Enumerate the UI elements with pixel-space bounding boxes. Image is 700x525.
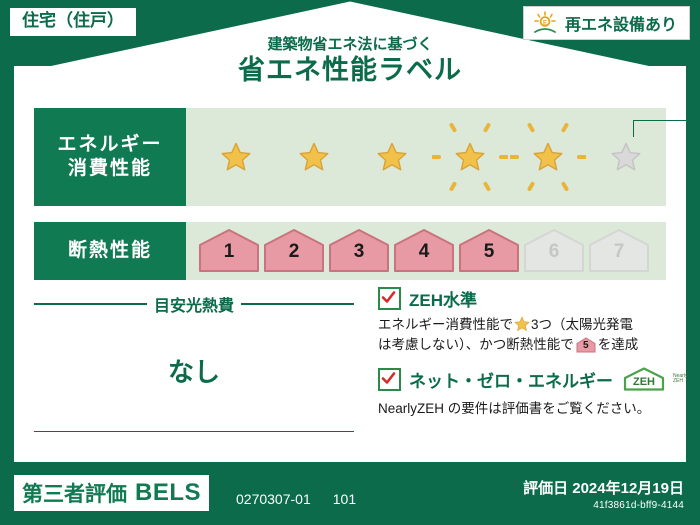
insulation-level-number: 7	[588, 241, 650, 263]
insulation-level-number: 2	[263, 241, 325, 263]
zeh-logo-icon: ZEH	[621, 366, 667, 392]
utility-cost-title: 目安光熱費	[154, 292, 234, 316]
net-zero-checkbox[interactable]	[378, 368, 401, 391]
zeh-logo-subtext: NearlyZEH	[673, 374, 687, 384]
insulation-level-number: 5	[458, 241, 520, 263]
energy-performance-label: エネルギー 消費性能	[34, 108, 186, 206]
evaluation-info: 評価日 2024年12月19日 41f3861d-bff9-4144	[523, 477, 684, 511]
insulation-level-scale: 1234567	[186, 228, 650, 274]
bels-energy-label: 住宅（住戸） E 再エネ設備あり 建築物省エネ法に基づく 省エネ性能ラベル エネ…	[0, 0, 700, 525]
energy-performance-row: エネルギー 消費性能 太陽光発電(自家消費)分	[34, 108, 666, 206]
inline-house-level: 5	[576, 339, 596, 354]
star-icon	[198, 119, 274, 195]
certificate-numbers: 0270307-01 101	[236, 491, 356, 507]
zeh-standard-title: ZEH水準	[409, 286, 477, 311]
insulation-levels-area: 1234567	[186, 222, 666, 280]
zeh-standard-description: エネルギー消費性能で3つ（太陽光発電 は考慮しない）、かつ断熱性能で5を達成	[378, 315, 674, 354]
zeh-desc-part1: エネルギー消費性能で	[378, 317, 513, 332]
energy-star-filled-4	[432, 119, 508, 195]
evaluation-date: 評価日 2024年12月19日	[523, 477, 684, 498]
renewable-energy-badge: E 再エネ設備あり	[523, 6, 690, 40]
certificate-sequence: 101	[333, 491, 356, 507]
inline-star-icon	[514, 316, 530, 332]
check-icon	[381, 371, 396, 386]
bels-jp-label: 第三者評価	[22, 478, 127, 508]
star-icon	[276, 119, 352, 195]
sun-icon: E	[532, 11, 558, 35]
net-zero-row: ネット・ゼロ・エネルギー ZEH NearlyZEH	[378, 366, 674, 392]
insulation-level-1: 1	[198, 228, 260, 274]
svg-text:E: E	[543, 20, 547, 26]
footer-bar: 第三者評価 BELS 0270307-01 101 評価日 2024年12月19…	[0, 463, 700, 525]
utility-cost-bottom-rule	[34, 431, 354, 433]
energy-star-rating	[186, 119, 664, 195]
renewable-badge-label: 再エネ設備あり	[565, 11, 677, 35]
insulation-level-number: 1	[198, 241, 260, 263]
insulation-level-2: 2	[263, 228, 325, 274]
rule-left	[34, 303, 147, 305]
house-type-tag: 住宅（住戸）	[8, 6, 138, 38]
insulation-label-text: 断熱性能	[68, 239, 152, 263]
net-zero-title: ネット・ゼロ・エネルギー	[409, 367, 613, 392]
insulation-level-5: 5	[458, 228, 520, 274]
zeh-logo-text: ZEH	[633, 376, 655, 388]
energy-star-filled-3	[354, 119, 430, 195]
utility-cost-block: 目安光熱費 なし	[34, 292, 354, 452]
bels-en-label: BELS	[135, 479, 201, 507]
inline-house-icon: 5	[576, 337, 596, 353]
zeh-block: ZEH水準 エネルギー消費性能で3つ（太陽光発電 は考慮しない）、かつ断熱性能で…	[378, 286, 674, 417]
insulation-performance-label: 断熱性能	[34, 222, 186, 280]
insulation-level-number: 4	[393, 241, 455, 263]
insulation-level-6: 6	[523, 228, 585, 274]
energy-label-line2: 消費性能	[68, 157, 152, 181]
title-block: 建築物省エネ法に基づく 省エネ性能ラベル	[0, 36, 700, 88]
energy-star-filled-2	[276, 119, 352, 195]
net-zero-energy-section: ネット・ゼロ・エネルギー ZEH NearlyZEH NearlyZEH の要件…	[378, 366, 674, 417]
energy-star-filled-5	[510, 119, 586, 195]
zeh-standard-row: ZEH水準	[378, 286, 674, 311]
insulation-level-number: 6	[523, 241, 585, 263]
evaluation-id: 41f3861d-bff9-4144	[523, 500, 684, 511]
bels-badge: 第三者評価 BELS	[14, 475, 209, 511]
insulation-level-7: 7	[588, 228, 650, 274]
star-icon	[432, 119, 508, 195]
energy-star-filled-1	[198, 119, 274, 195]
page-title: 省エネ性能ラベル	[0, 54, 700, 88]
utility-cost-value: なし	[34, 352, 354, 389]
energy-star-empty-6	[588, 119, 664, 195]
zeh-desc-part2: 3つ（太陽光発電	[531, 317, 633, 332]
insulation-level-4: 4	[393, 228, 455, 274]
certificate-number: 0270307-01	[236, 491, 311, 507]
star-icon	[588, 119, 664, 195]
utility-cost-heading: 目安光熱費	[34, 292, 354, 316]
star-icon	[354, 119, 430, 195]
check-icon	[381, 290, 396, 305]
zeh-desc-part4: を達成	[598, 337, 639, 352]
energy-label-line1: エネルギー	[57, 133, 162, 157]
energy-stars-area: 太陽光発電(自家消費)分	[186, 108, 666, 206]
insulation-level-3: 3	[328, 228, 390, 274]
star-icon	[510, 119, 586, 195]
net-zero-description: NearlyZEH の要件は評価書をご覧ください。	[378, 397, 674, 417]
insulation-performance-row: 断熱性能 1234567	[34, 222, 666, 280]
zeh-desc-part3: は考慮しない）、かつ断熱性能で	[378, 337, 574, 352]
insulation-level-number: 3	[328, 241, 390, 263]
rule-right	[241, 303, 354, 305]
zeh-standard-checkbox[interactable]	[378, 287, 401, 310]
